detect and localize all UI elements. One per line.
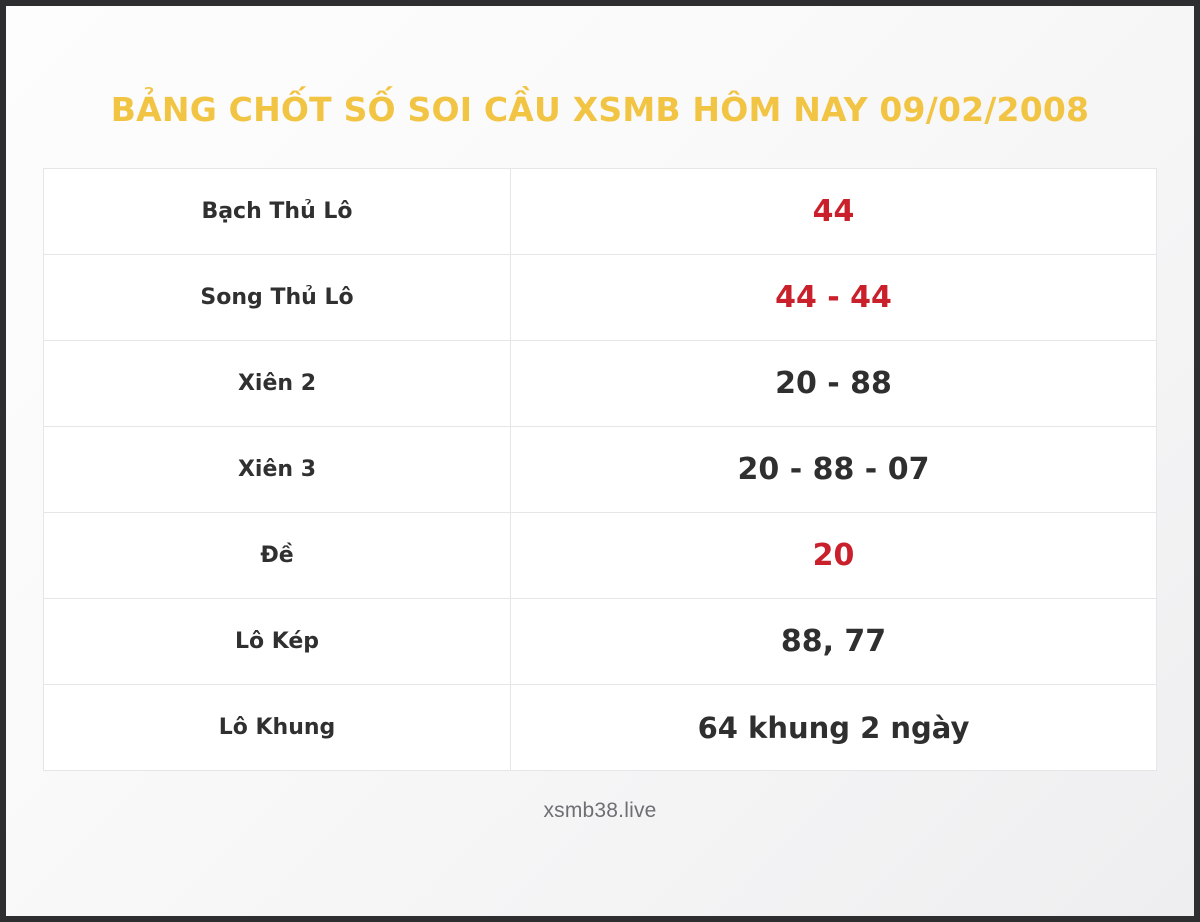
row-label: Bạch Thủ Lô [44, 169, 511, 255]
row-label: Xiên 3 [44, 427, 511, 513]
row-value: 64 khung 2 ngày [511, 685, 1157, 771]
table-row: Song Thủ Lô 44 - 44 [44, 255, 1157, 341]
prediction-table-body: Bạch Thủ Lô 44 Song Thủ Lô 44 - 44 Xiên … [44, 169, 1157, 771]
row-label: Song Thủ Lô [44, 255, 511, 341]
row-label: Lô Kép [44, 599, 511, 685]
row-value: 20 - 88 [511, 341, 1157, 427]
row-label: Đề [44, 513, 511, 599]
row-value: 20 - 88 - 07 [511, 427, 1157, 513]
table-row: Lô Khung 64 khung 2 ngày [44, 685, 1157, 771]
row-label: Lô Khung [44, 685, 511, 771]
table-row: Lô Kép 88, 77 [44, 599, 1157, 685]
row-value: 20 [511, 513, 1157, 599]
table-row: Xiên 3 20 - 88 - 07 [44, 427, 1157, 513]
table-row: Bạch Thủ Lô 44 [44, 169, 1157, 255]
table-row: Xiên 2 20 - 88 [44, 341, 1157, 427]
page-title: BẢNG CHỐT SỐ SOI CẦU XSMB HÔM NAY 09/02/… [6, 6, 1194, 128]
prediction-table: Bạch Thủ Lô 44 Song Thủ Lô 44 - 44 Xiên … [43, 168, 1157, 771]
table-row: Đề 20 [44, 513, 1157, 599]
row-label: Xiên 2 [44, 341, 511, 427]
row-value: 44 - 44 [511, 255, 1157, 341]
site-watermark: xsmb38.live [543, 799, 656, 823]
row-value: 88, 77 [511, 599, 1157, 685]
page-canvas: BẢNG CHỐT SỐ SOI CẦU XSMB HÔM NAY 09/02/… [0, 0, 1200, 922]
row-value: 44 [511, 169, 1157, 255]
